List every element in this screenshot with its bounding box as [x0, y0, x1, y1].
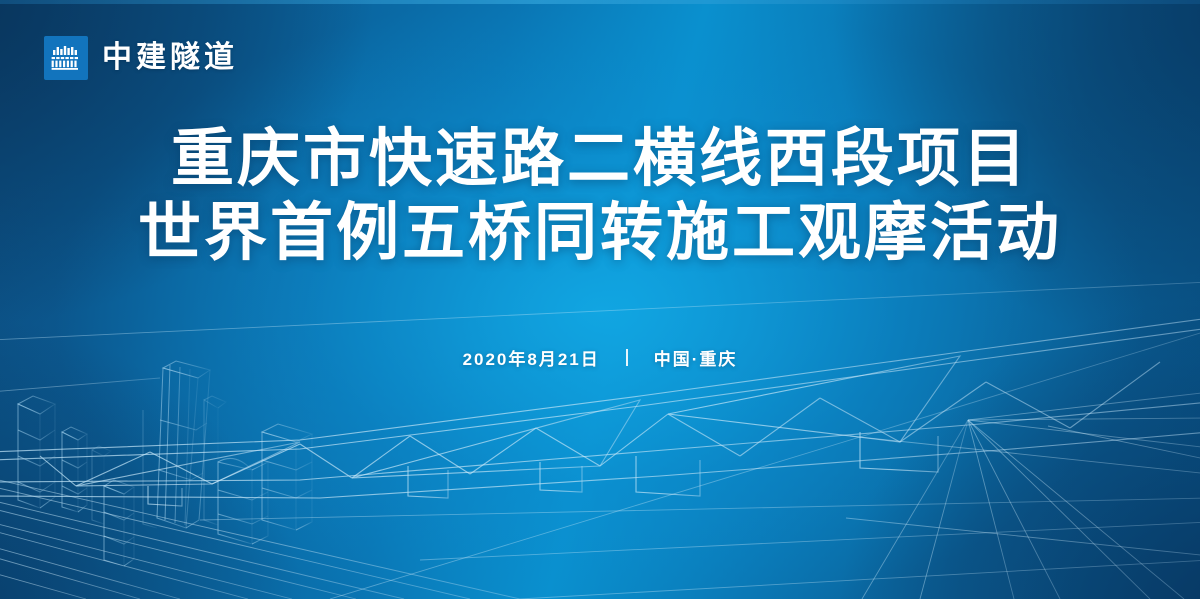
brand-company-name: 中建隧道	[102, 43, 238, 73]
subtitle-divider	[626, 349, 628, 366]
subtitle-date: 2020年8月21日	[463, 345, 600, 370]
brand-logo: 中建隧道	[44, 36, 238, 80]
headline-line-2: 世界首例五桥同转施工观摩活动	[0, 196, 1200, 270]
subtitle-location: 中国·重庆	[654, 345, 738, 370]
event-banner: 中建隧道 重庆市快速路二横线西段项目 世界首例五桥同转施工观摩活动 2020年8…	[0, 0, 1200, 599]
headline-line-1: 重庆市快速路二横线西段项目	[0, 122, 1200, 196]
cscec-logo-mark-icon	[44, 36, 88, 80]
headline-block: 重庆市快速路二横线西段项目 世界首例五桥同转施工观摩活动	[0, 122, 1200, 270]
subtitle-block: 2020年8月21日 中国·重庆	[0, 345, 1200, 370]
background-corner-bottom-right	[0, 0, 1200, 599]
background-top-edge-highlight	[0, 0, 1200, 4]
